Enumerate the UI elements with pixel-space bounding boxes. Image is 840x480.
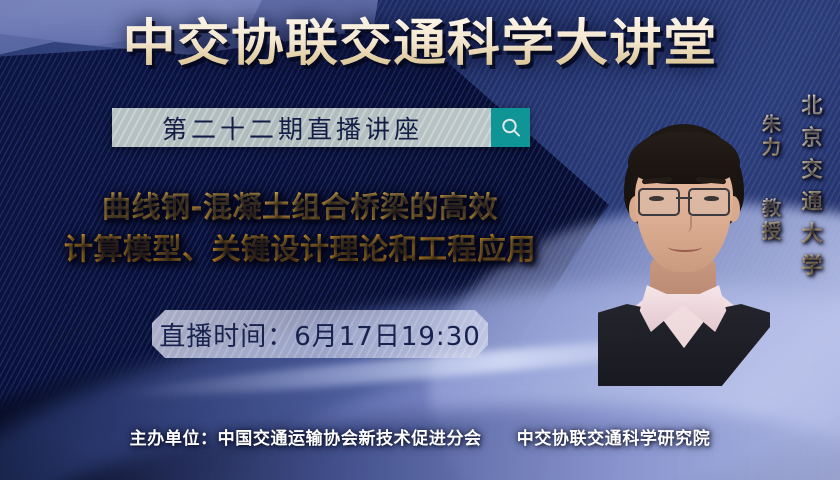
session-label: 第二十二期直播讲座 <box>112 108 491 147</box>
page-title: 中交协联交通科学大讲堂 <box>0 14 840 72</box>
lecture-topic: 曲线钢-混凝土组合桥梁的高效 计算模型、关键设计理论和工程应用 <box>0 186 600 270</box>
footer-organizer-label: 主办单位：中国交通运输协会新技术促进分会 <box>130 429 482 449</box>
speaker-title: 教授 <box>757 198 784 244</box>
livestream-poster: 中交协联交通科学大讲堂 第二十二期直播讲座 曲线钢-混凝土组合桥梁的高效 计算模… <box>0 0 840 480</box>
footer-institute: 中交协联交通科学研究院 <box>517 429 711 449</box>
topic-line-2: 计算模型、关键设计理论和工程应用 <box>0 228 600 270</box>
session-band: 第二十二期直播讲座 <box>112 108 530 147</box>
broadcast-time-badge: 直播时间：6月17日19:30 <box>152 310 488 358</box>
topic-line-1: 曲线钢-混凝土组合桥梁的高效 <box>0 186 600 228</box>
speaker-name: 朱力 <box>757 114 784 160</box>
footer-organizers: 主办单位：中国交通运输协会新技术促进分会 中交协联交通科学研究院 <box>0 424 840 449</box>
speaker-university: 北京交通大学 <box>796 94 826 286</box>
search-icon[interactable] <box>491 108 530 147</box>
